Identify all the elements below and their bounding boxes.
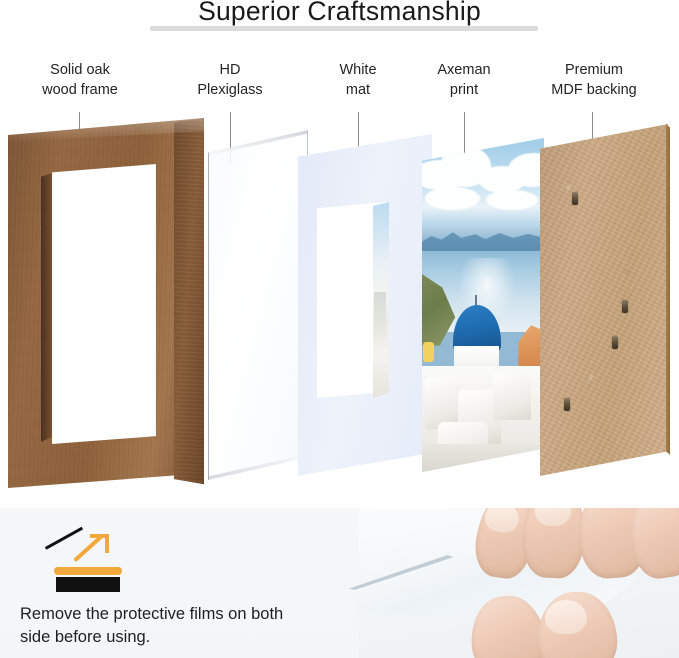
santorini-photo [422, 138, 544, 472]
cloud-shape [425, 187, 480, 211]
callout-line-1: Axeman [406, 60, 522, 80]
instruction-text: Remove the protective films on both side… [20, 603, 350, 649]
callout-line-2: Plexiglass [170, 80, 290, 100]
callout-label-white-mat: White mat [300, 60, 416, 100]
callout-line-1: HD [170, 60, 290, 80]
mdf-board [540, 124, 668, 476]
instruction-line-2: side before using. [20, 626, 350, 649]
callout-label-hd-plexiglass: HD Plexiglass [170, 60, 290, 100]
callout-label-axeman-print: Axeman print [406, 60, 522, 100]
callout-label-premium-mdf-backing: Premium MDF backing [524, 60, 664, 100]
mdf-hanging-tab [622, 300, 628, 313]
mdf-hanging-tab [564, 398, 570, 411]
instruction-line-1: Remove the protective films on both [20, 603, 350, 626]
foreground-terrace [422, 444, 544, 472]
mat-window-print-sliver [373, 202, 389, 398]
exploded-layer-group [0, 110, 679, 500]
distant-mountains [422, 224, 544, 254]
icon-peel-arrow [76, 534, 110, 564]
icon-panel-base [56, 577, 120, 592]
callout-line-2: mat [300, 80, 416, 100]
frame-depth-side [174, 118, 204, 488]
cloud-shape [486, 190, 539, 210]
exploded-view-panel: Superior Craftsmanship Solid oak wood fr… [0, 0, 679, 508]
yellow-building-accent [423, 342, 434, 362]
page-title: Superior Craftsmanship [0, 0, 679, 27]
layer-premium-mdf-backing [540, 124, 668, 476]
callout-line-2: wood frame [16, 80, 144, 100]
layer-white-mat [298, 134, 432, 476]
frame-opening [52, 164, 156, 444]
mdf-right-edge [666, 124, 670, 476]
product-infographic: Superior Craftsmanship Solid oak wood fr… [0, 0, 679, 658]
mdf-hanging-tab [572, 192, 578, 205]
layer-solid-oak-wood-frame [8, 118, 204, 488]
layer-axeman-print [422, 138, 544, 472]
callout-line-2: print [406, 80, 522, 100]
callout-line-1: White [300, 60, 416, 80]
title-block: Superior Craftsmanship [0, 0, 679, 40]
mdf-hanging-tab [612, 336, 618, 349]
film-peel-photo [359, 508, 679, 658]
fingernail [545, 600, 587, 634]
callout-line-1: Solid oak [16, 60, 144, 80]
callout-label-solid-oak-wood-frame: Solid oak wood frame [16, 60, 144, 100]
callout-line-1: Premium [524, 60, 664, 80]
arrow-head [90, 534, 109, 553]
frame-inner-rabbet [41, 170, 53, 442]
village-block [425, 377, 460, 429]
village-block [493, 372, 531, 420]
instruction-panel: Remove the protective films on both side… [0, 508, 679, 658]
peel-protective-film-icon [52, 534, 128, 592]
plexiglass-outline [208, 130, 308, 480]
callout-line-2: MDF backing [524, 80, 664, 100]
layer-hd-plexiglass [208, 130, 308, 480]
icon-film-layer [54, 567, 122, 575]
